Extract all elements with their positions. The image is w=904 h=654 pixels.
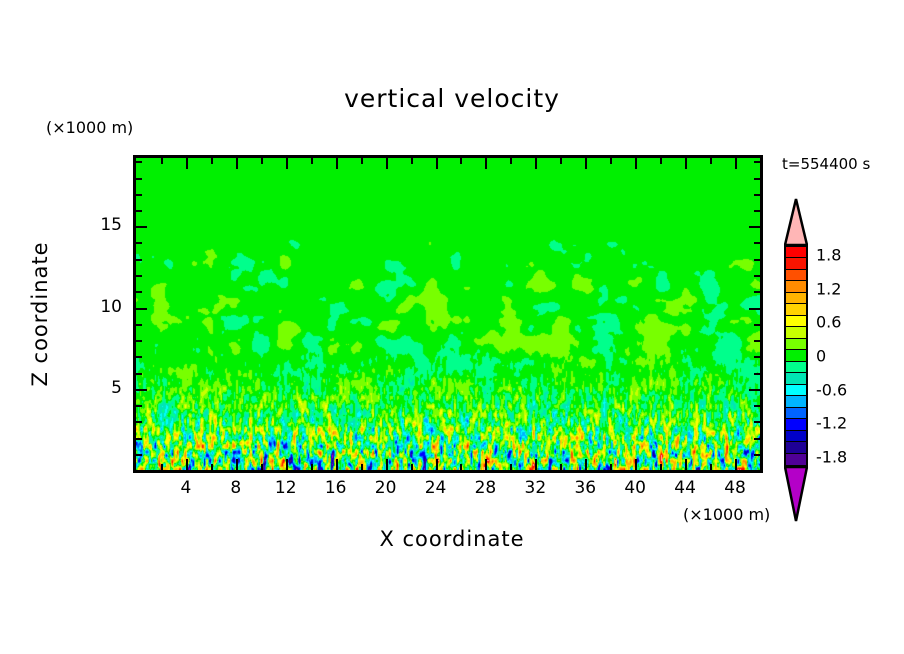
x-major-tick <box>685 158 687 169</box>
y-minor-tick <box>754 210 760 212</box>
colorbar-band <box>786 385 806 396</box>
contour-plot-panel <box>133 155 763 473</box>
y-minor-tick <box>136 324 142 326</box>
colorbar-band <box>786 350 806 361</box>
x-major-tick <box>735 459 737 470</box>
y-minor-tick <box>754 373 760 375</box>
colorbar-over-arrow-icon <box>784 197 808 247</box>
x-major-tick <box>436 459 438 470</box>
colorbar-band <box>786 258 806 269</box>
x-minor-tick <box>361 158 363 164</box>
x-minor-tick <box>311 158 313 164</box>
x-minor-tick <box>510 464 512 470</box>
colorbar-band <box>786 247 806 258</box>
x-major-tick <box>286 158 288 169</box>
x-tick-label: 28 <box>475 478 497 498</box>
x-major-tick <box>585 459 587 470</box>
x-minor-tick <box>411 158 413 164</box>
y-tick-label-text: 10 <box>100 297 122 317</box>
x-major-tick <box>186 158 188 169</box>
colorbar-band <box>786 316 806 327</box>
y-axis-unit-label: (×1000 m) <box>46 118 133 137</box>
x-major-tick <box>735 158 737 169</box>
y-tick-label-text: 5 <box>111 378 122 398</box>
y-minor-tick <box>136 340 142 342</box>
x-tick-label: 4 <box>180 478 191 498</box>
colorbar-band <box>786 327 806 338</box>
x-major-tick <box>236 459 238 470</box>
x-minor-tick <box>610 464 612 470</box>
x-major-tick <box>336 158 338 169</box>
x-major-tick <box>535 158 537 169</box>
velocity-field-heatmap <box>136 158 760 470</box>
y-major-tick <box>136 389 147 391</box>
x-minor-tick <box>261 158 263 164</box>
x-minor-tick <box>261 464 263 470</box>
colorbar-band <box>786 408 806 419</box>
x-axis-title: X coordinate <box>0 527 904 551</box>
y-minor-tick <box>136 373 142 375</box>
colorbar-band <box>786 304 806 315</box>
x-major-tick <box>286 459 288 470</box>
y-minor-tick <box>754 242 760 244</box>
x-minor-tick <box>161 158 163 164</box>
y-minor-tick <box>136 178 142 180</box>
x-tick-label: 20 <box>375 478 397 498</box>
colorbar-band <box>786 442 806 453</box>
x-minor-tick <box>411 464 413 470</box>
y-minor-tick <box>754 291 760 293</box>
x-minor-tick <box>660 158 662 164</box>
figure-canvas: vertical velocity (×1000 m) (×1000 m) t=… <box>0 0 904 654</box>
colorbar-band <box>786 419 806 430</box>
y-minor-tick <box>754 356 760 358</box>
colorbar-tick-label: 1.8 <box>816 246 841 265</box>
colorbar-tick-label: 0 <box>816 347 826 366</box>
page-title: vertical velocity <box>0 84 904 113</box>
x-minor-tick <box>510 158 512 164</box>
y-minor-tick <box>754 161 760 163</box>
x-major-tick <box>386 158 388 169</box>
y-major-tick <box>136 226 147 228</box>
x-major-tick <box>236 158 238 169</box>
y-axis-title: Z coordinate <box>28 241 52 386</box>
x-major-tick <box>485 459 487 470</box>
y-minor-tick <box>754 454 760 456</box>
colorbar-band <box>786 281 806 292</box>
x-minor-tick <box>560 158 562 164</box>
timestamp-annotation: t=554400 s <box>782 155 870 173</box>
x-tick-label: 48 <box>724 478 746 498</box>
x-minor-tick <box>211 158 213 164</box>
y-minor-tick <box>754 405 760 407</box>
x-tick-label: 24 <box>425 478 447 498</box>
y-minor-tick <box>754 421 760 423</box>
y-minor-tick <box>754 178 760 180</box>
x-minor-tick <box>311 464 313 470</box>
colorbar-tick-label: 0.6 <box>816 313 841 332</box>
y-minor-tick <box>136 421 142 423</box>
x-minor-tick <box>560 464 562 470</box>
colorbar-band <box>786 454 806 465</box>
y-minor-tick <box>136 194 142 196</box>
y-minor-tick <box>136 438 142 440</box>
x-minor-tick <box>460 158 462 164</box>
colorbar-bands <box>784 245 808 467</box>
colorbar-tick-label: -1.8 <box>816 447 847 466</box>
colorbar-tick-label: -1.2 <box>816 414 847 433</box>
x-tick-label: 16 <box>325 478 347 498</box>
x-axis-unit-label: (×1000 m) <box>683 505 770 524</box>
x-tick-label: 8 <box>230 478 241 498</box>
x-minor-tick <box>660 464 662 470</box>
y-minor-tick <box>136 275 142 277</box>
y-tick-label-text: 15 <box>100 215 122 235</box>
y-minor-tick <box>754 324 760 326</box>
y-major-tick <box>749 226 760 228</box>
colorbar-tick-label: 1.2 <box>816 279 841 298</box>
colorbar-band <box>786 396 806 407</box>
colorbar-band <box>786 362 806 373</box>
y-minor-tick <box>136 356 142 358</box>
x-tick-label: 12 <box>275 478 297 498</box>
y-minor-tick <box>754 275 760 277</box>
x-minor-tick <box>161 464 163 470</box>
x-major-tick <box>535 459 537 470</box>
x-major-tick <box>186 459 188 470</box>
y-major-tick <box>136 308 147 310</box>
x-major-tick <box>336 459 338 470</box>
colorbar-band <box>786 339 806 350</box>
x-major-tick <box>386 459 388 470</box>
x-minor-tick <box>460 464 462 470</box>
x-tick-label: 40 <box>624 478 646 498</box>
y-minor-tick <box>136 242 142 244</box>
x-major-tick <box>635 459 637 470</box>
y-minor-tick <box>136 405 142 407</box>
x-tick-label: 44 <box>674 478 696 498</box>
x-minor-tick <box>361 464 363 470</box>
x-minor-tick <box>710 464 712 470</box>
x-minor-tick <box>710 158 712 164</box>
y-major-tick <box>749 308 760 310</box>
colorbar-band <box>786 373 806 384</box>
colorbar: 1.81.20.60-0.6-1.2-1.8 <box>778 200 888 520</box>
colorbar-band <box>786 270 806 281</box>
x-major-tick <box>485 158 487 169</box>
y-minor-tick <box>754 259 760 261</box>
x-major-tick <box>585 158 587 169</box>
y-minor-tick <box>754 438 760 440</box>
colorbar-band <box>786 293 806 304</box>
y-minor-tick <box>754 340 760 342</box>
y-minor-tick <box>136 161 142 163</box>
colorbar-under-arrow-icon <box>784 465 808 523</box>
x-minor-tick <box>211 464 213 470</box>
y-minor-tick <box>136 259 142 261</box>
y-minor-tick <box>136 210 142 212</box>
y-minor-tick <box>754 194 760 196</box>
x-major-tick <box>436 158 438 169</box>
y-major-tick <box>749 389 760 391</box>
y-minor-tick <box>136 291 142 293</box>
x-tick-label: 36 <box>574 478 596 498</box>
y-minor-tick <box>136 454 142 456</box>
colorbar-band <box>786 431 806 442</box>
colorbar-tick-label: -0.6 <box>816 380 847 399</box>
x-minor-tick <box>610 158 612 164</box>
x-major-tick <box>635 158 637 169</box>
x-tick-label: 32 <box>525 478 547 498</box>
x-major-tick <box>685 459 687 470</box>
